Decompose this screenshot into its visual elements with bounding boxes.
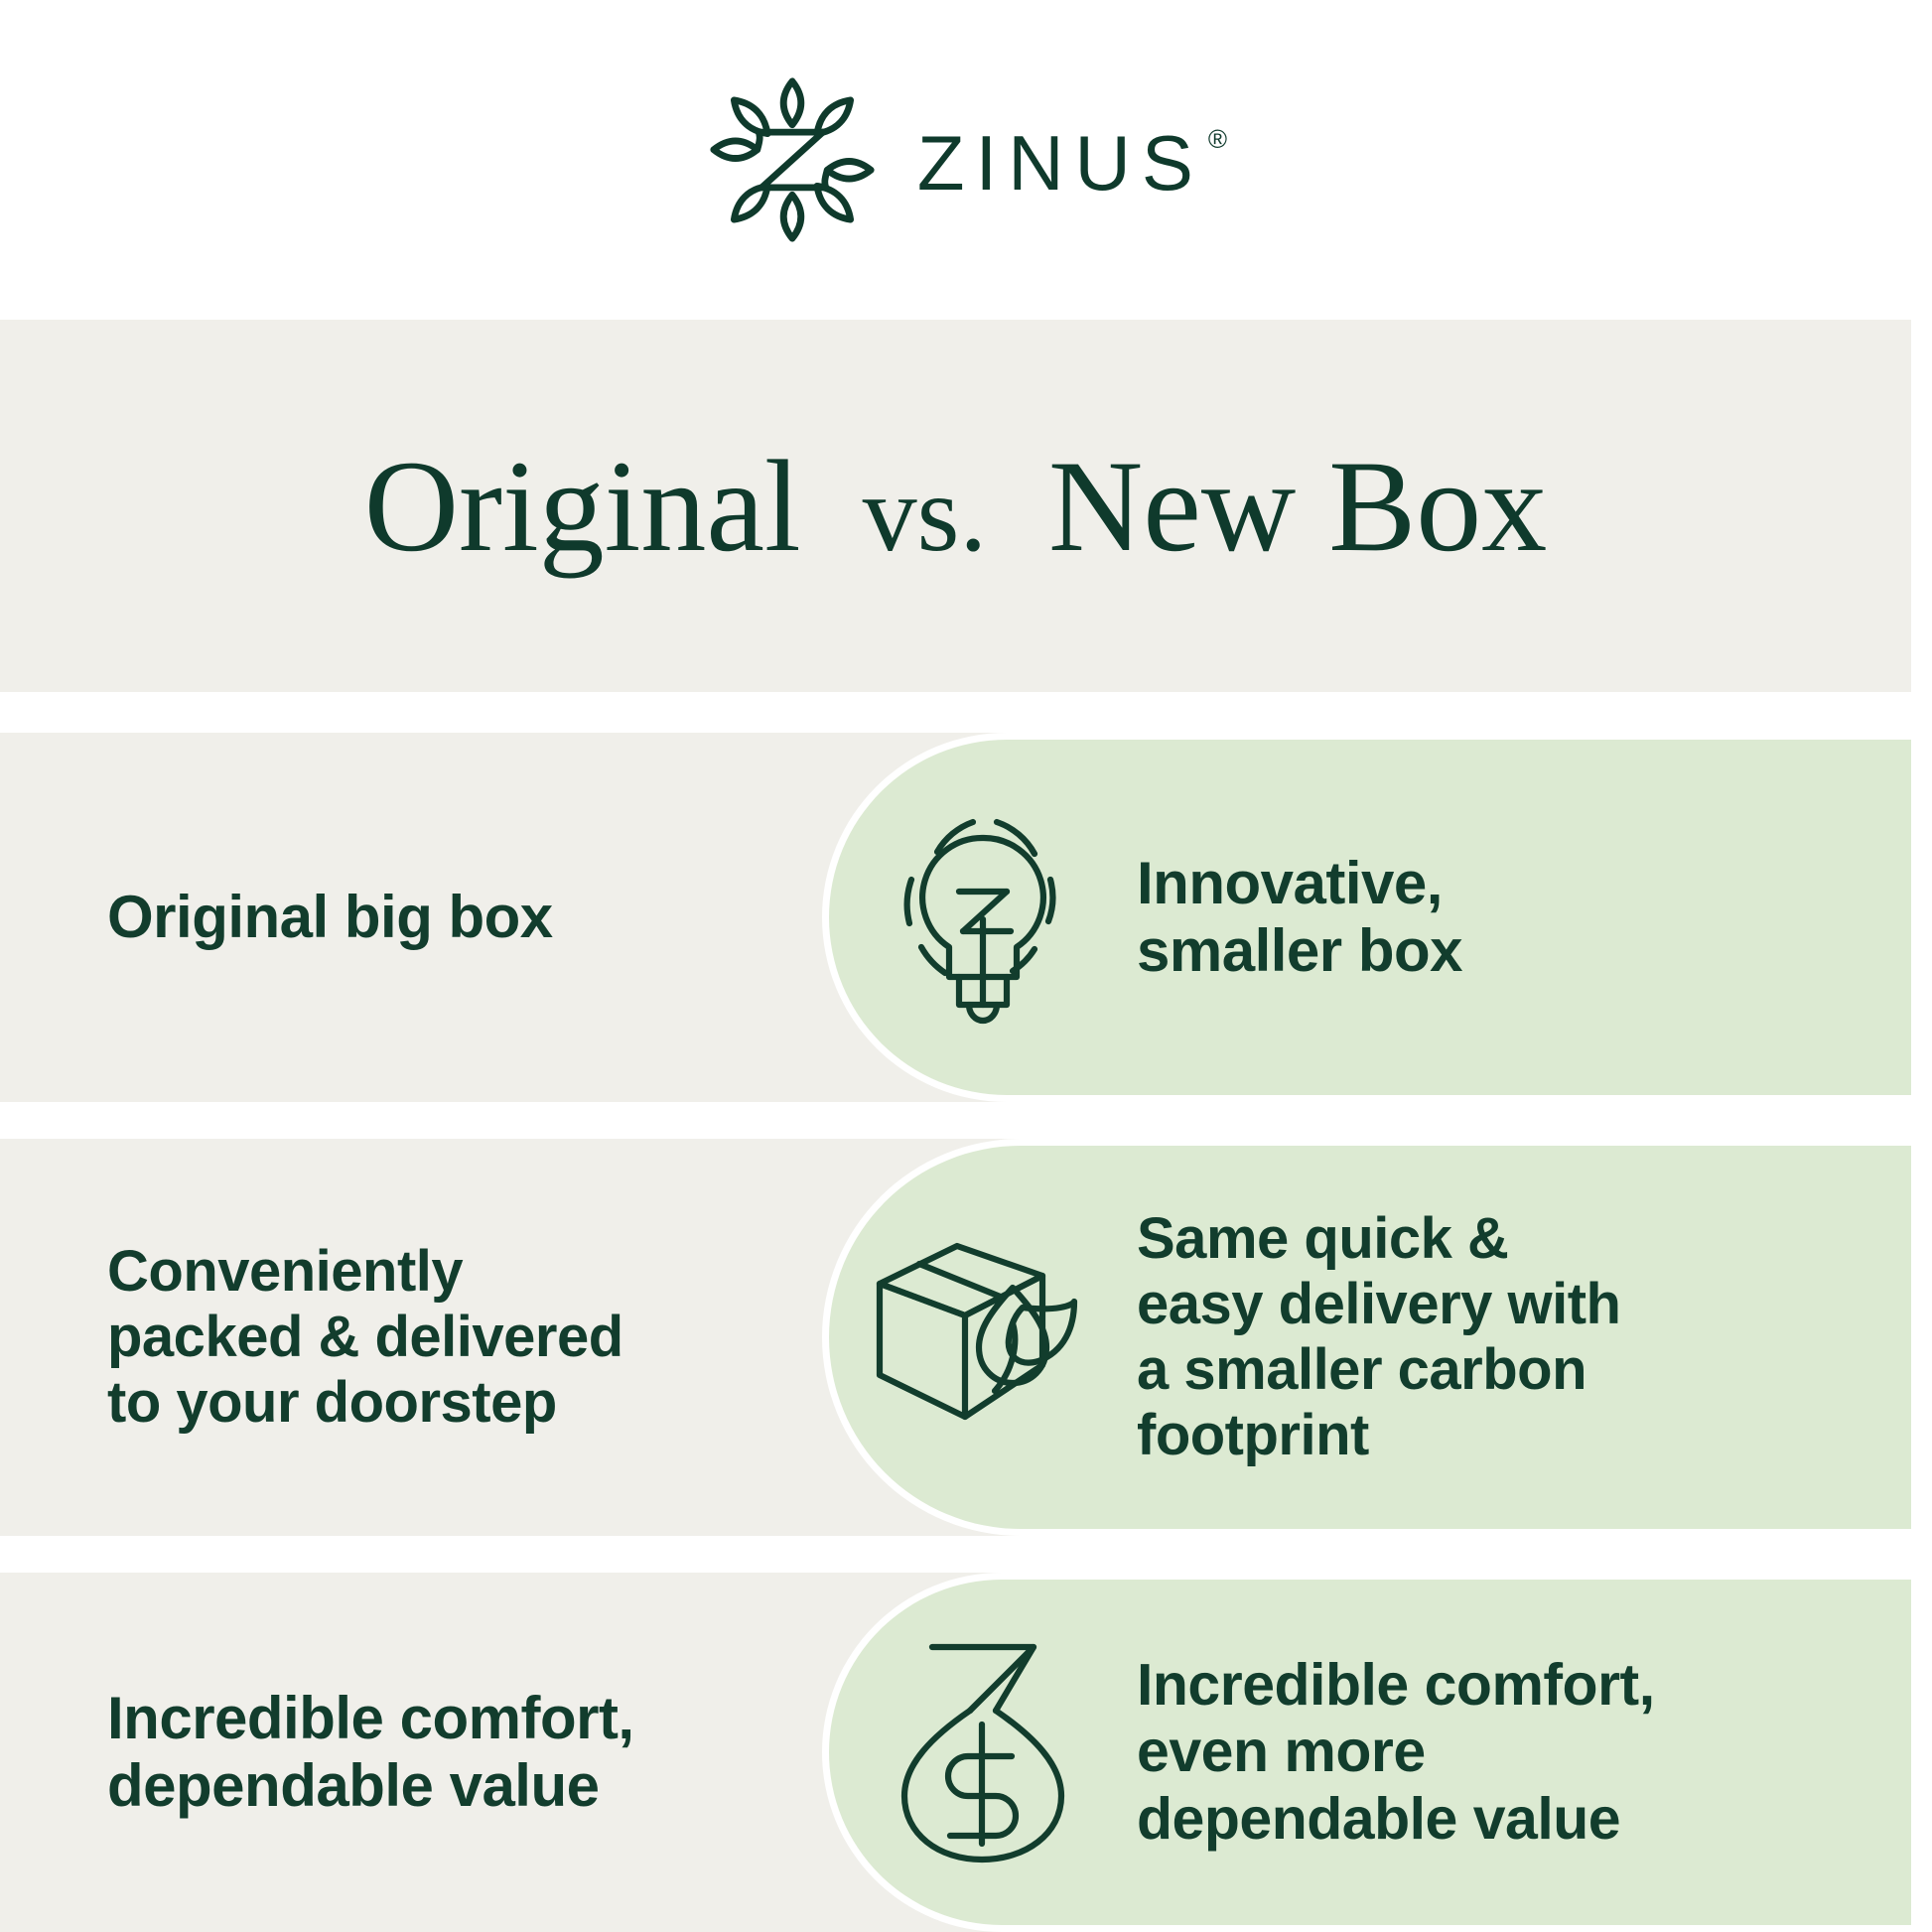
icon-cell bbox=[829, 800, 1137, 1035]
original-column: Original big box bbox=[107, 733, 822, 1102]
wordmark-group: ZINUS ® bbox=[917, 72, 1227, 247]
title-original: Original bbox=[364, 441, 801, 572]
new-box-description: Innovative,smaller box bbox=[1137, 850, 1462, 986]
brand-wordmark: ZINUS bbox=[917, 124, 1204, 202]
original-column: Incredible comfort,dependable value bbox=[107, 1573, 822, 1932]
eco-box-leaf-icon bbox=[868, 1240, 1098, 1435]
title-banner: Original vs. New Box bbox=[0, 320, 1911, 692]
original-description: Original big box bbox=[107, 884, 553, 951]
new-box-column: Innovative,smaller box bbox=[822, 733, 1911, 1102]
new-box-description: Same quick &easy delivery witha smaller … bbox=[1137, 1206, 1620, 1468]
title-new-box: New Box bbox=[1048, 441, 1547, 572]
new-box-column: Same quick &easy delivery witha smaller … bbox=[822, 1139, 1911, 1536]
new-box-column: Incredible comfort,even moredependable v… bbox=[822, 1573, 1911, 1932]
title-separator: vs. bbox=[863, 459, 987, 568]
icon-cell bbox=[829, 1240, 1137, 1435]
lightbulb-z-filament-icon bbox=[878, 800, 1088, 1035]
original-description: Convenientlypacked & deliveredto your do… bbox=[107, 1239, 623, 1436]
original-column: Convenientlypacked & deliveredto your do… bbox=[107, 1139, 822, 1536]
comparison-row: Original big box bbox=[0, 733, 1911, 1102]
icon-cell bbox=[829, 1633, 1137, 1871]
comparison-row: Incredible comfort,dependable value bbox=[0, 1573, 1911, 1932]
brand-header: ZINUS ® bbox=[0, 0, 1932, 320]
original-description: Incredible comfort,dependable value bbox=[107, 1685, 634, 1821]
new-box-description: Incredible comfort,even moredependable v… bbox=[1137, 1652, 1655, 1853]
comparison-infographic: ZINUS ® Original vs. New Box Original bi… bbox=[0, 0, 1932, 1932]
title-row: Original vs. New Box bbox=[364, 441, 1548, 572]
zinus-leaf-monogram-icon bbox=[705, 72, 880, 247]
registered-trademark-icon: ® bbox=[1208, 126, 1227, 152]
money-bag-dollar-icon bbox=[889, 1633, 1077, 1871]
comparison-row: Convenientlypacked & deliveredto your do… bbox=[0, 1139, 1911, 1536]
